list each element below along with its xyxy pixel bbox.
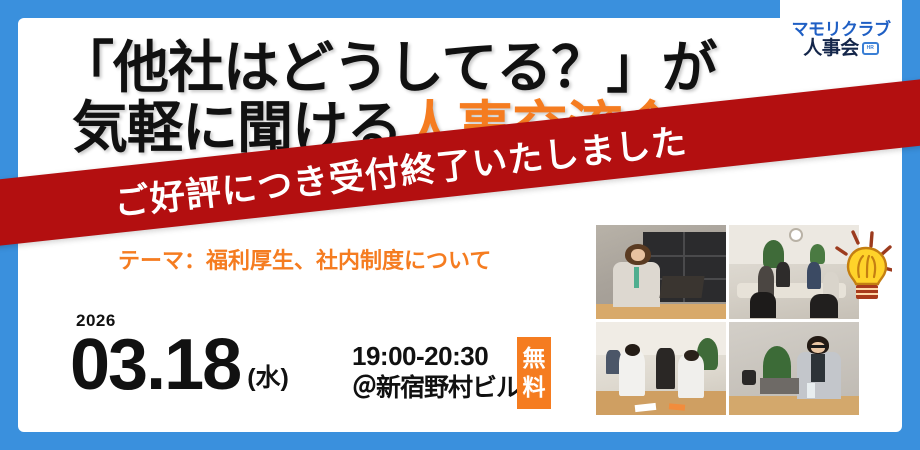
event-date-row: 03.18 (水)	[70, 331, 289, 399]
event-time-venue-block: 19:00-20:30 ＠新宿野村ビル	[352, 340, 520, 404]
logo-line-1: マモリクラブ	[792, 21, 891, 38]
event-date: 03.18	[70, 331, 240, 399]
logo-line-2: 人事会	[803, 39, 859, 58]
headline-line-1: 「他社はどうしてる？」が	[58, 38, 788, 98]
event-banner: マモリクラブ 人事会 HR 「他社はどうしてる？」が 気軽に聞ける人事交流会＠新…	[0, 0, 920, 450]
logo-line-2-row: 人事会 HR	[803, 39, 879, 58]
brand-logo[interactable]: マモリクラブ 人事会 HR	[780, 0, 902, 78]
free-badge-char-2: 料	[523, 373, 546, 402]
photo-man-presenting	[729, 322, 859, 416]
event-time: 19:00-20:30	[352, 340, 520, 373]
photo-woman-at-desk	[596, 225, 726, 319]
event-date-block: 2026 03.18 (水)	[70, 312, 289, 399]
event-venue: ＠新宿野村ビル	[352, 373, 520, 404]
photo-standing-group	[596, 322, 726, 416]
hr-badge-icon: HR	[862, 42, 879, 55]
free-price-badge: 無 料	[517, 337, 551, 409]
event-day-of-week: (水)	[247, 358, 289, 394]
photo-collage	[596, 225, 859, 415]
subtitle-theme: テーマ：福利厚生、社内制度について	[118, 243, 491, 275]
free-badge-char-1: 無	[523, 344, 546, 373]
lightbulb-icon	[828, 230, 892, 304]
